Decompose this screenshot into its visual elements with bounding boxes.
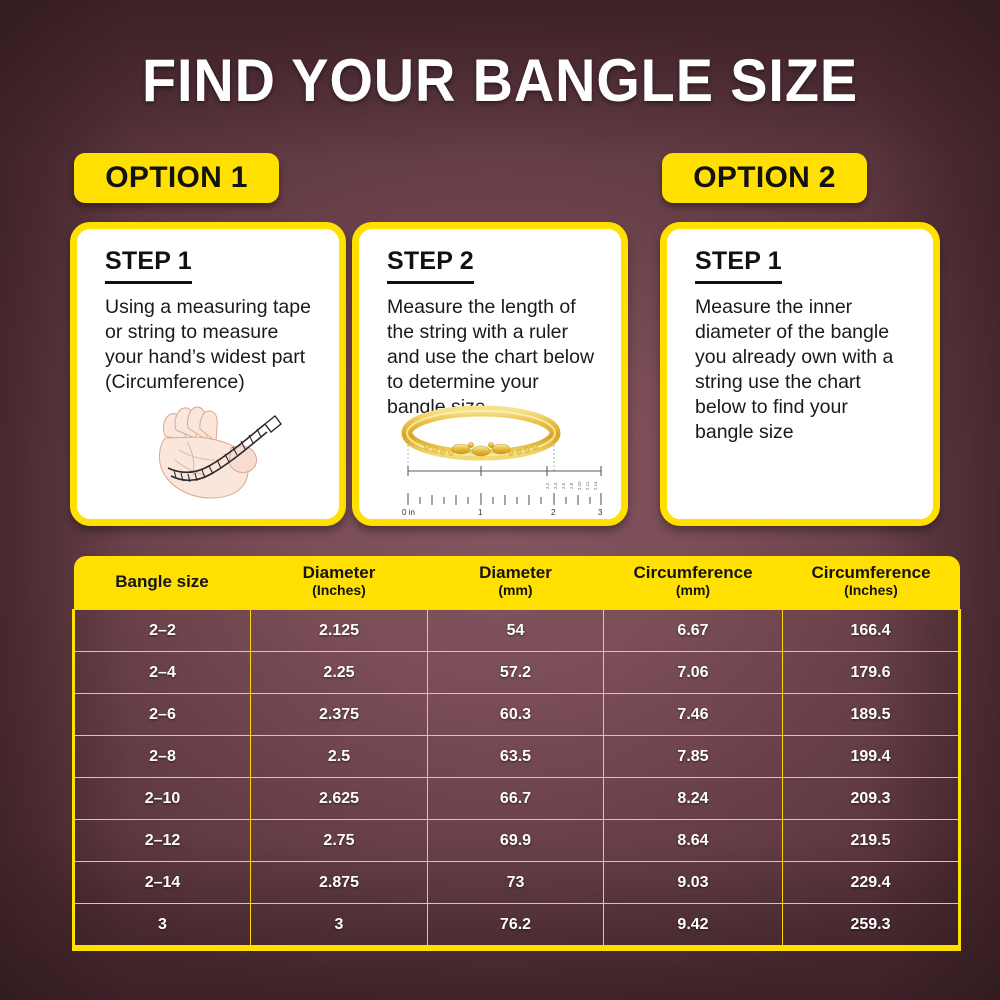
- step-3-body: Measure the inner diameter of the bangle…: [695, 295, 907, 445]
- table-cell: 2.125: [251, 610, 428, 652]
- table-cell: 8.64: [604, 820, 783, 862]
- page-title: FIND YOUR BANGLE SIZE: [35, 50, 965, 112]
- table-cell: 66.7: [428, 778, 604, 820]
- table-row: 2–102.62566.78.24209.3: [74, 778, 960, 820]
- table-body: 2–22.125546.67166.42–42.2557.27.06179.62…: [74, 610, 960, 949]
- table-cell: 7.85: [604, 736, 783, 778]
- option-2-label: OPTION 2: [693, 161, 835, 195]
- table-cell: 2–14: [74, 862, 251, 904]
- option-1-badge: OPTION 1: [74, 153, 279, 203]
- table-cell: 2.5: [251, 736, 428, 778]
- table-cell: 219.5: [783, 820, 960, 862]
- table-cell: 2–12: [74, 820, 251, 862]
- column-header-bangle-size: Bangle size: [74, 556, 251, 610]
- table-cell: 7.46: [604, 694, 783, 736]
- table-cell: 73: [428, 862, 604, 904]
- table-cell: 179.6: [783, 652, 960, 694]
- svg-text:2.14: 2.14: [593, 481, 598, 490]
- table-row: 2–142.875739.03229.4: [74, 862, 960, 904]
- step-1-body: Using a measuring tape or string to meas…: [105, 295, 313, 395]
- table-row: 2–122.7569.98.64219.5: [74, 820, 960, 862]
- table-row: 2–82.563.57.85199.4: [74, 736, 960, 778]
- svg-text:2.8: 2.8: [569, 482, 574, 489]
- svg-text:2.12: 2.12: [585, 481, 590, 490]
- step-1-heading: STEP 1: [105, 247, 192, 284]
- table-cell: 259.3: [783, 904, 960, 949]
- gold-bangle-over-ruler-icon: 2.2 2.4 2.6 2.8 2.10 2.12 2.14: [389, 397, 611, 517]
- table-cell: 2.375: [251, 694, 428, 736]
- step-3-heading: STEP 1: [695, 247, 782, 284]
- table-cell: 2–2: [74, 610, 251, 652]
- table-header-row: Bangle size Diameter (Inches) Diameter (…: [74, 556, 960, 610]
- column-header-circumference-inches: Circumference (Inches): [783, 556, 960, 610]
- table-row: 2–62.37560.37.46189.5: [74, 694, 960, 736]
- column-header-diameter-inches: Diameter (Inches): [251, 556, 428, 610]
- hand-with-measuring-tape-icon: [135, 394, 315, 516]
- table-cell: 54: [428, 610, 604, 652]
- svg-text:2.10: 2.10: [577, 481, 582, 490]
- svg-text:2.2: 2.2: [545, 482, 550, 489]
- table-cell: 2–4: [74, 652, 251, 694]
- table-row: 3376.29.42259.3: [74, 904, 960, 949]
- ruler-label-1: 1: [478, 508, 483, 517]
- table-cell: 8.24: [604, 778, 783, 820]
- ruler-label-0: 0 in: [402, 508, 415, 517]
- table-cell: 3: [74, 904, 251, 949]
- table-cell: 2.25: [251, 652, 428, 694]
- table-cell: 63.5: [428, 736, 604, 778]
- column-header-circumference-mm: Circumference (mm): [604, 556, 783, 610]
- table-row: 2–22.125546.67166.4: [74, 610, 960, 652]
- svg-text:2.4: 2.4: [553, 482, 558, 489]
- table-cell: 199.4: [783, 736, 960, 778]
- option-1-label: OPTION 1: [105, 161, 247, 195]
- table-cell: 209.3: [783, 778, 960, 820]
- table-cell: 6.67: [604, 610, 783, 652]
- step-card-option2-step1: STEP 1 Measure the inner diameter of the…: [660, 222, 940, 526]
- table-cell: 166.4: [783, 610, 960, 652]
- ruler-label-3: 3: [598, 508, 603, 517]
- table-cell: 60.3: [428, 694, 604, 736]
- step-card-option1-step2: STEP 2 Measure the length of the string …: [352, 222, 628, 526]
- table-cell: 2–6: [74, 694, 251, 736]
- table-row: 2–42.2557.27.06179.6: [74, 652, 960, 694]
- table-cell: 76.2: [428, 904, 604, 949]
- table-cell: 3: [251, 904, 428, 949]
- table-cell: 2.75: [251, 820, 428, 862]
- table-cell: 9.03: [604, 862, 783, 904]
- step-card-option1-step1: STEP 1 Using a measuring tape or string …: [70, 222, 346, 526]
- ruler-label-2: 2: [551, 508, 556, 517]
- table-cell: 57.2: [428, 652, 604, 694]
- option-2-badge: OPTION 2: [662, 153, 867, 203]
- table-cell: 2.875: [251, 862, 428, 904]
- table-header: Bangle size Diameter (Inches) Diameter (…: [74, 556, 960, 610]
- table-cell: 229.4: [783, 862, 960, 904]
- table-cell: 9.42: [604, 904, 783, 949]
- bangle-size-table: Bangle size Diameter (Inches) Diameter (…: [72, 556, 961, 951]
- table-cell: 7.06: [604, 652, 783, 694]
- table-cell: 189.5: [783, 694, 960, 736]
- table-cell: 69.9: [428, 820, 604, 862]
- step-2-heading: STEP 2: [387, 247, 474, 284]
- column-header-diameter-mm: Diameter (mm): [428, 556, 604, 610]
- table-cell: 2–10: [74, 778, 251, 820]
- table-cell: 2.625: [251, 778, 428, 820]
- table-cell: 2–8: [74, 736, 251, 778]
- svg-text:2.6: 2.6: [561, 482, 566, 489]
